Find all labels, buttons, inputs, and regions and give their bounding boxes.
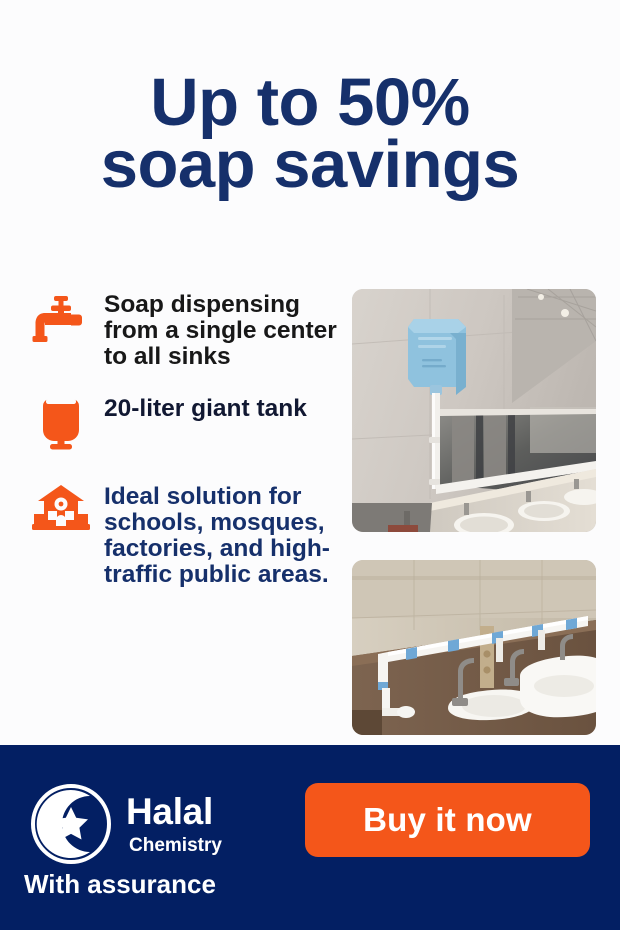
feature-list: Soap dispensing from a single center to … [30,288,350,588]
promo-poster: Up to 50% soap savings [0,0,620,930]
brand-subtitle: Chemistry [129,836,222,855]
assurance-text: With assurance [24,869,216,900]
page-title: Up to 50% soap savings [0,72,620,197]
faucet-icon [30,288,92,354]
buy-it-now-button[interactable]: Buy it now [305,783,590,857]
brand-lockup: Halal Chemistry [28,781,222,867]
photo-pipe-distribution-sinks [352,560,596,735]
headline-line-1: Up to 50% [0,72,620,134]
crescent-star-icon [28,781,114,867]
photo-wall-mounted-soap-tank [352,289,596,532]
feature-item-tank: 20-liter giant tank [30,392,350,458]
school-building-icon [30,480,92,546]
feature-item-dispensing: Soap dispensing from a single center to … [30,288,350,370]
feature-label: 20-liter giant tank [104,392,307,422]
brand-name: Halal [126,793,222,830]
headline-line-2: soap savings [0,134,620,196]
feature-label: Soap dispensing from a single center to … [104,288,350,370]
feature-item-use-cases: Ideal solution for schools, mosques, fac… [30,480,350,588]
feature-label: Ideal solution for schools, mosques, fac… [104,480,350,588]
tank-icon [30,392,92,458]
